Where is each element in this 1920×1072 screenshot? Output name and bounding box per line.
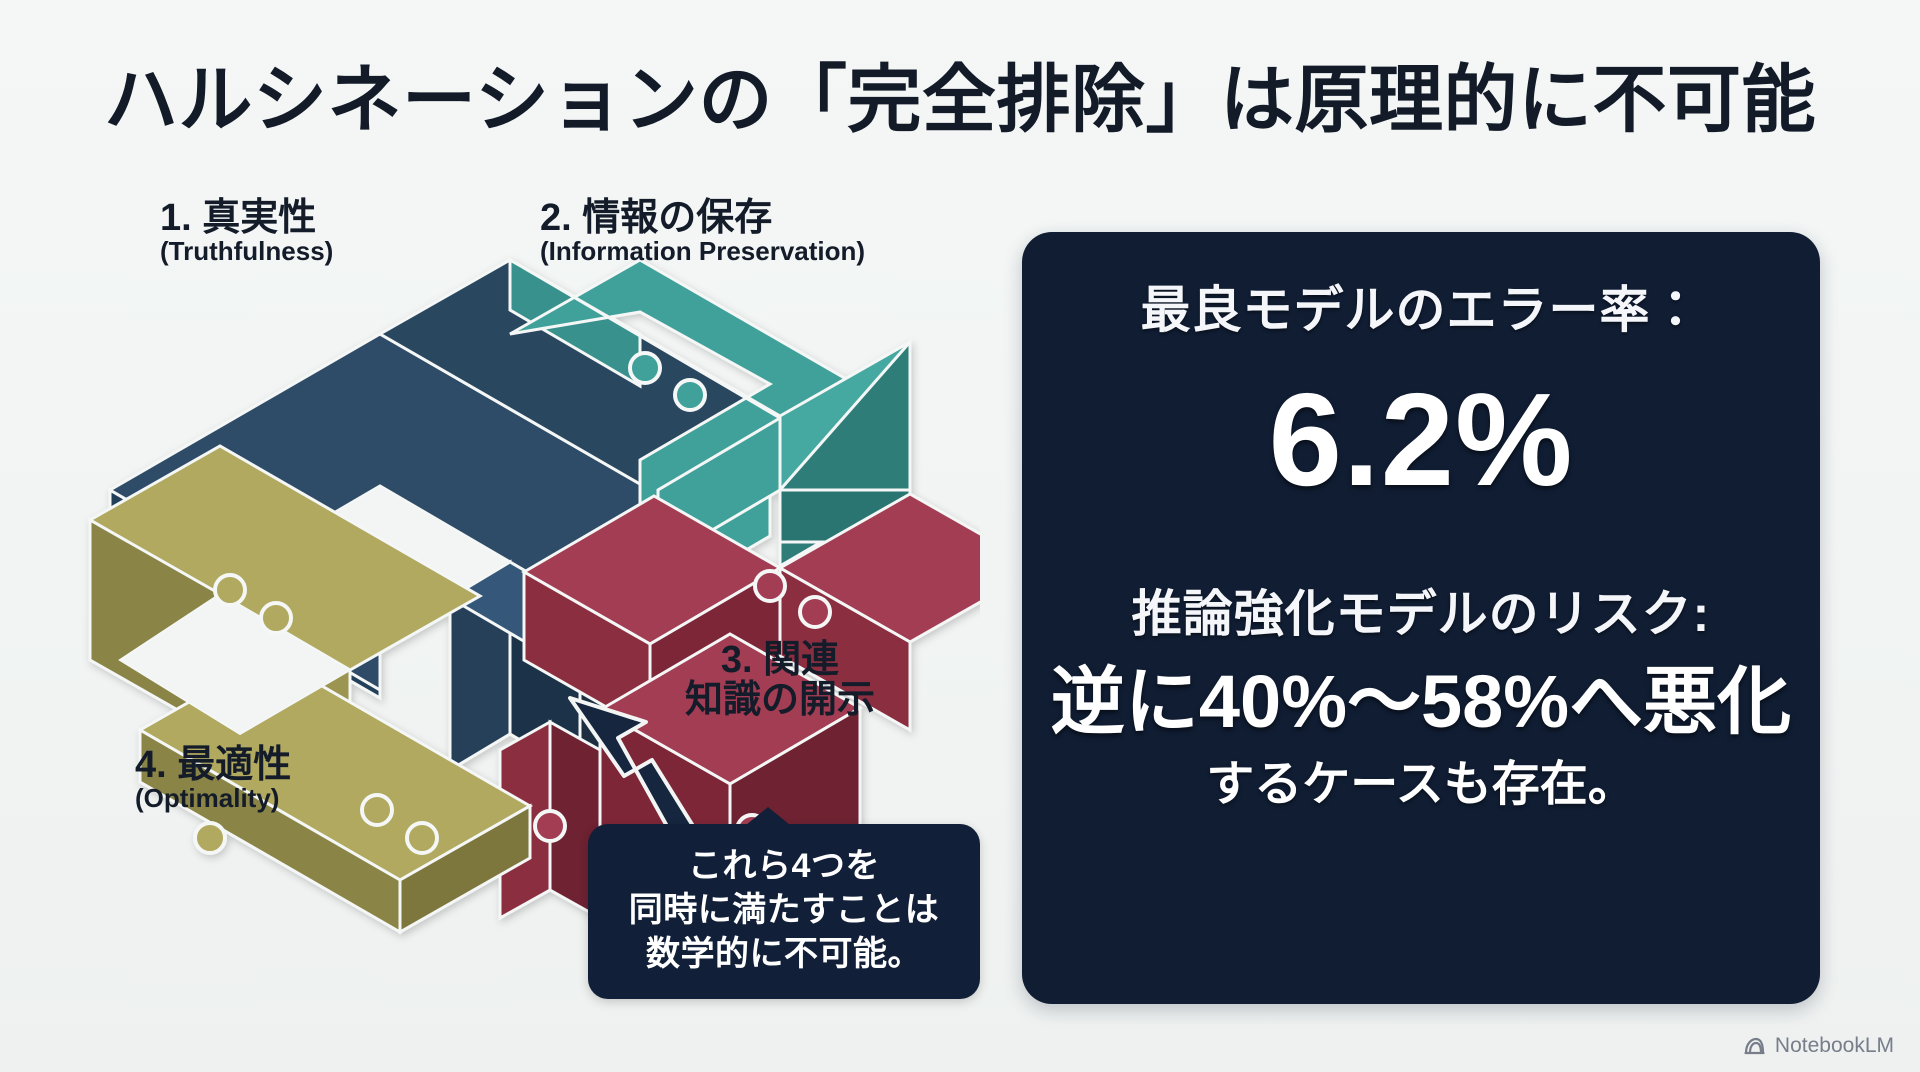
page-title: ハルシネーションの「完全排除」は原理的に不可能 — [0, 40, 1920, 147]
callout-balloon: これら4つを 同時に満たすことは 数学的に不可能。 — [588, 824, 980, 999]
notebooklm-spiral-icon — [1743, 1036, 1767, 1056]
puzzle-label-information-preservation-jp: 2. 情報の保存 — [540, 198, 865, 238]
notebooklm-watermark: NotebookLM — [1743, 1034, 1894, 1058]
puzzle-label-optimality-jp: 4. 最適性 — [135, 745, 291, 785]
puzzle-label-truthfulness: 1. 真実性 (Truthfulness) — [160, 198, 333, 266]
puzzle-label-relevant-knowledge-line1: 3. 関連 — [685, 640, 875, 680]
puzzle-label-truthfulness-en: (Truthfulness) — [160, 238, 333, 266]
best-model-error-rate-value: 6.2% — [1269, 374, 1574, 506]
reasoning-model-risk-value: 逆に40%～58%へ悪化 — [1051, 662, 1791, 742]
puzzle-label-optimality: 4. 最適性 (Optimality) — [135, 745, 291, 813]
reasoning-model-risk-caption: 推論強化モデルのリスク: — [1132, 584, 1711, 644]
stats-panel: 最良モデルのエラー率： 6.2% 推論強化モデルのリスク: 逆に40%～58%へ… — [1022, 232, 1820, 1004]
slide-canvas: ハルシネーションの「完全排除」は原理的に不可能 — [0, 0, 1920, 1072]
puzzle-label-information-preservation-en: (Information Preservation) — [540, 238, 865, 266]
puzzle-label-truthfulness-jp: 1. 真実性 — [160, 198, 333, 238]
puzzle-label-optimality-en: (Optimality) — [135, 785, 291, 813]
callout-line-2: 同時に満たすことは — [602, 888, 966, 932]
callout-line-1: これら4つを — [602, 844, 966, 888]
best-model-error-rate-caption: 最良モデルのエラー率： — [1141, 280, 1702, 340]
callout-line-3: 数学的に不可能。 — [602, 932, 966, 976]
puzzle-label-information-preservation: 2. 情報の保存 (Information Preservation) — [540, 198, 865, 266]
reasoning-model-risk-note: するケースも存在。 — [1206, 756, 1636, 814]
notebooklm-watermark-label: NotebookLM — [1775, 1034, 1894, 1058]
